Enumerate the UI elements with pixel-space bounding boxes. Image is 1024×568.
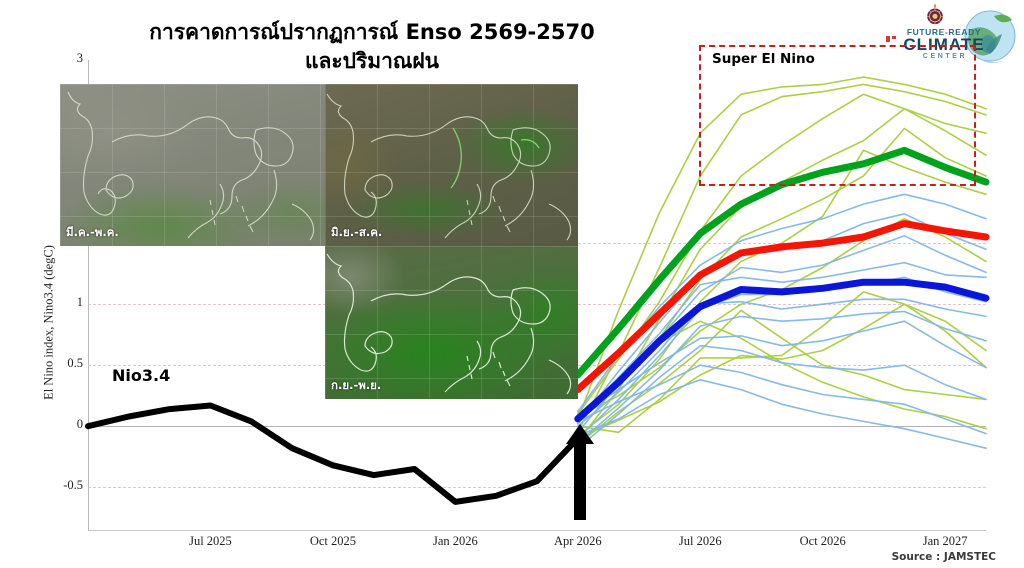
series-observed-000000 [88, 406, 578, 502]
super-el-nino-label: Super El Nino [712, 51, 815, 67]
x-tick-label: Apr 2026 [554, 534, 602, 549]
source-credit: Source : JAMSTEC [892, 551, 996, 563]
y-axis-label: El Nino index, Nino3.4 (degC) [42, 198, 57, 448]
slide-canvas: การคาดการณ์ปรากฏการณ์ Enso 2569-2570 และ… [0, 0, 1024, 568]
y-tick-label: -0.5 [63, 478, 88, 493]
rainfall-map-sep-nov: ก.ย.-พ.ย. [325, 246, 578, 399]
x-tick-label: Jan 2026 [433, 534, 478, 549]
rainfall-map-jun-aug: มิ.ย.-ส.ค. [325, 84, 578, 246]
x-tick-label: Oct 2025 [310, 534, 356, 549]
title-line-1: การคาดการณ์ปรากฏการณ์ Enso 2569-2570 [92, 18, 652, 47]
y-tick-label: 3 [77, 51, 88, 66]
coastline-overlay [325, 84, 578, 246]
map-caption: มี.ค.-พ.ค. [66, 224, 119, 242]
y-tick-label: 1 [77, 295, 88, 310]
y-tick-label: 0.5 [67, 356, 88, 371]
x-tick-label: Jul 2025 [189, 534, 232, 549]
x-axis-line [88, 530, 986, 531]
x-tick-label: Oct 2026 [800, 534, 846, 549]
rainfall-map-mar-may: มี.ค.-พ.ค. [60, 84, 325, 246]
university-crest-icon [922, 2, 948, 28]
up-arrow-icon [565, 424, 595, 520]
nino34-label: Nio3.4 [112, 366, 170, 385]
x-tick-label: Jul 2026 [679, 534, 722, 549]
map-caption: มิ.ย.-ส.ค. [331, 224, 382, 242]
coastline-overlay [60, 84, 325, 246]
map-caption: ก.ย.-พ.ย. [331, 377, 381, 395]
x-tick-label: Jan 2027 [923, 534, 968, 549]
